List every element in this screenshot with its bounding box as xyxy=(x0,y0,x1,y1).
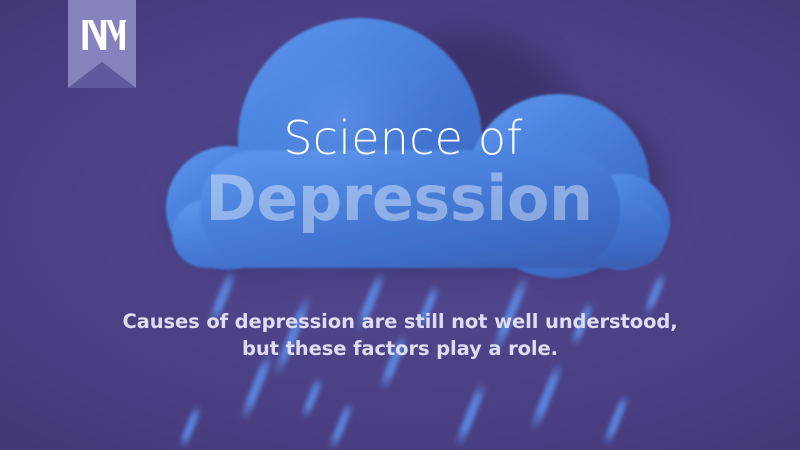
brand-logo-ribbon xyxy=(68,0,136,88)
northwestern-medicine-nm-icon xyxy=(68,0,136,88)
slide-canvas: Science of Depression Causes of depressi… xyxy=(0,0,800,450)
